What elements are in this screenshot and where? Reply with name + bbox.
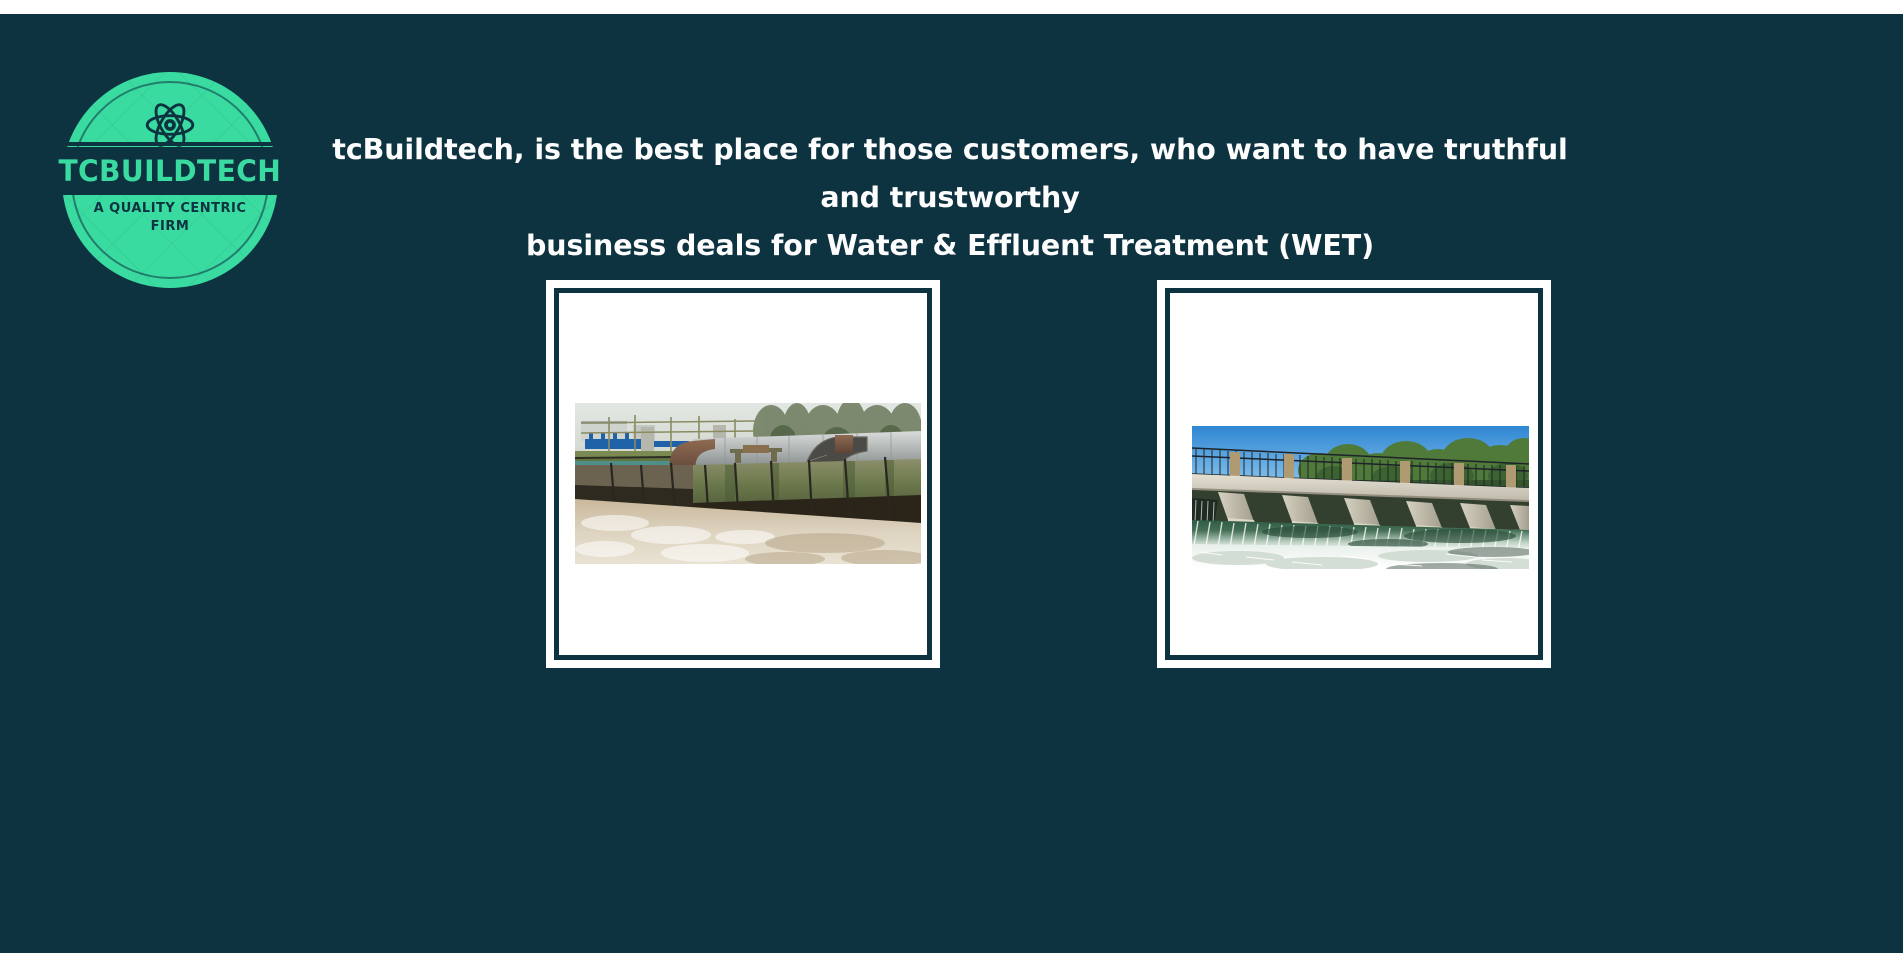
frame-inner-border xyxy=(554,288,932,660)
image-frame-effluent-pipes[interactable] xyxy=(546,280,940,668)
logo-band-rule xyxy=(53,142,287,146)
logo-wordmark-text: TCBUILDTECH xyxy=(59,157,282,186)
logo-wordmark-band: TCBUILDTECH xyxy=(53,147,287,195)
slide-body: A QUALITY CENTRIC FIRM TCBUILDTECH tcBui… xyxy=(0,14,1903,953)
company-logo[interactable]: A QUALITY CENTRIC FIRM TCBUILDTECH xyxy=(62,72,278,288)
top-white-margin xyxy=(0,0,1903,14)
page-title: tcBuildtech, is the best place for those… xyxy=(300,126,1600,270)
photo-dam-spillway-weir xyxy=(1192,426,1529,569)
logo-tagline: A QUALITY CENTRIC FIRM xyxy=(78,200,262,235)
frame-inner-border xyxy=(1165,288,1543,660)
image-frame-dam-spillway[interactable] xyxy=(1157,280,1551,668)
photo-effluent-discharge-pipes xyxy=(575,403,921,564)
slide-canvas-root: A QUALITY CENTRIC FIRM TCBUILDTECH tcBui… xyxy=(0,0,1903,953)
page-title-line-2: business deals for Water & Effluent Trea… xyxy=(300,222,1600,270)
page-title-line-1: tcBuildtech, is the best place for those… xyxy=(300,126,1600,222)
